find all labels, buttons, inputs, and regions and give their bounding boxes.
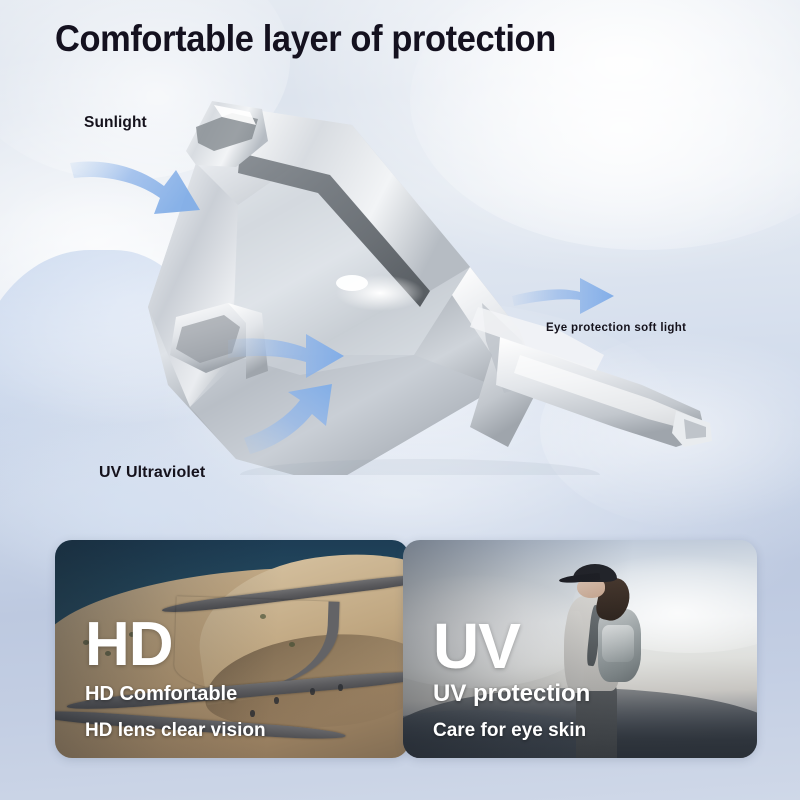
label-uv-ultraviolet: UV Ultraviolet [99, 464, 205, 482]
hd-title: HD Comfortable [85, 683, 266, 706]
hd-card-text: HD HD Comfortable HD lens clear vision [85, 616, 266, 742]
lens-facet-lower [190, 355, 498, 475]
hd-badge: HD [85, 616, 266, 673]
uv-caption: Care for eye skin [433, 720, 590, 742]
uv-title: UV protection [433, 680, 590, 708]
label-eye-protection-soft-light: Eye protection soft light [546, 322, 686, 334]
hd-caption: HD lens clear vision [85, 720, 266, 742]
lens-specular-core [336, 275, 368, 291]
label-sunlight: Sunlight [84, 114, 147, 132]
uv-card-text: UV UV protection Care for eye skin [433, 617, 590, 742]
feature-card-uv[interactable]: UV UV protection Care for eye skin [403, 540, 757, 758]
product-infographic: Comfortable layer of protection Sunlight… [0, 0, 800, 800]
uv-badge: UV [433, 617, 590, 676]
page-title: Comfortable layer of protection [55, 18, 556, 60]
feature-card-hd[interactable]: HD HD Comfortable HD lens clear vision [55, 540, 409, 758]
